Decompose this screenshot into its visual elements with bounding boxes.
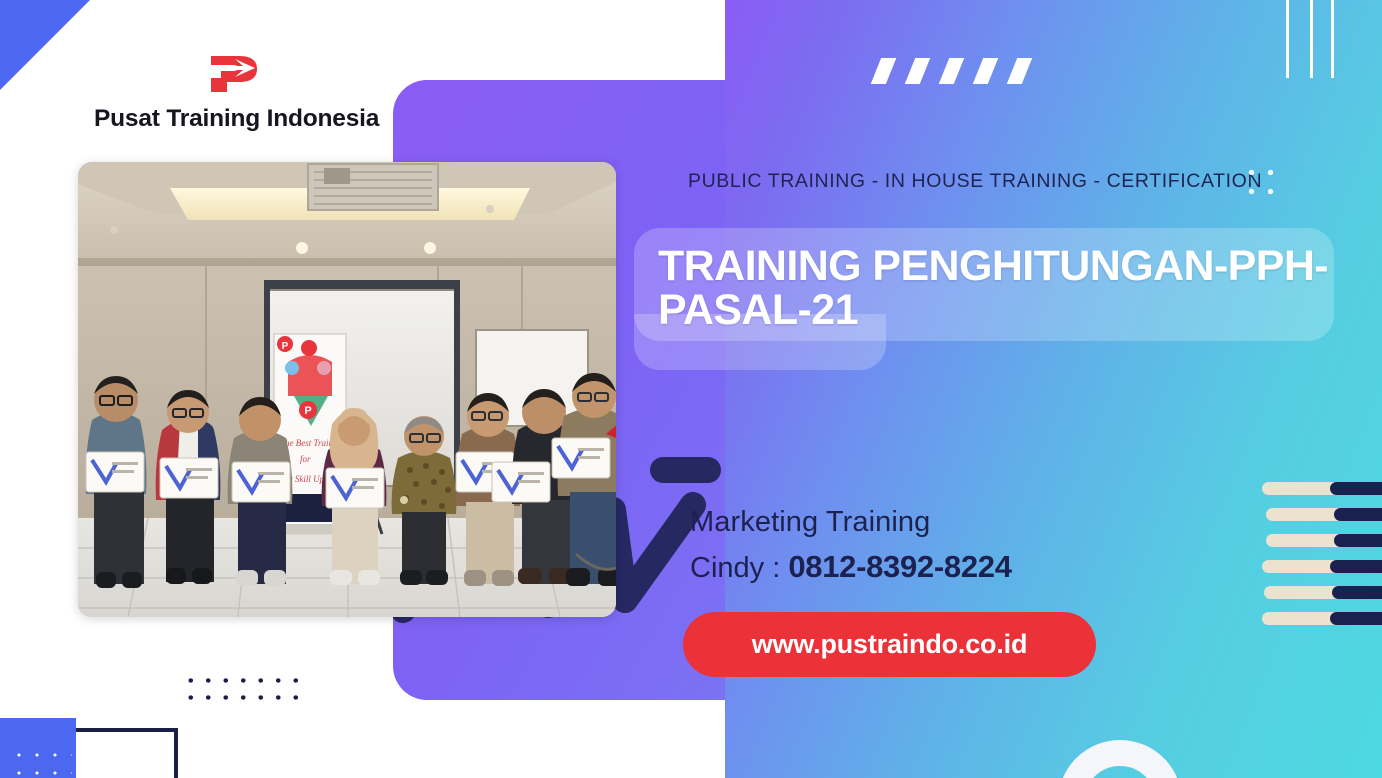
bar-navy-segment [1334,508,1382,521]
dotted-square-decoration [0,718,76,778]
slant-dash [973,58,999,84]
bar-cream-segment [1262,482,1340,495]
pusat-training-p-arrow-logo-icon [203,52,261,92]
corner-triangle-decoration [0,0,90,90]
white-dot-grid [10,746,72,778]
contact-block: Marketing Training Cindy : 0812-8392-822… [690,506,1012,585]
contact-phone-line: Cindy : 0812-8392-8224 [690,549,1012,585]
brand-logo-block: Pusat Training Indonesia [94,52,370,133]
website-cta-button[interactable]: www.pustraindo.co.id [683,612,1096,677]
bar-cream-segment [1262,560,1340,573]
bar-cream-segment [1266,508,1344,521]
bar-navy-segment [1330,482,1382,495]
bar-cream-segment [1266,534,1344,547]
vertical-line-decoration [1286,0,1289,78]
bar-navy-segment [1334,534,1382,547]
contact-phone-number[interactable]: 0812-8392-8224 [788,549,1011,584]
slant-dash [939,58,965,84]
svg-text:P: P [304,405,311,417]
vertical-line-decoration [1310,0,1313,78]
bar-stack-decoration [1262,482,1382,628]
page-title: TRAINING PENGHITUNGAN-PPH-PASAL-21 [634,228,1334,333]
svg-text:P: P [282,341,289,352]
promo-banner: P P The Best Training for Your Skill Upg… [0,0,1382,778]
tagline: PUBLIC TRAINING - IN HOUSE TRAINING - CE… [688,170,1262,193]
bar-cream-segment [1262,612,1340,625]
slanted-dashes-decoration [876,58,1046,84]
bar-navy-segment [1330,560,1382,573]
brand-name: Pusat Training Indonesia [94,105,370,133]
white-dot-grid-decoration [1242,163,1284,205]
vertical-line-decoration [1331,0,1334,78]
slant-dash [905,58,931,84]
bar-navy-segment [1330,612,1382,625]
slant-dash [1007,58,1033,84]
bar-cream-segment [1264,586,1342,599]
training-group-photo: P P The Best Training for Your Skill Upg… [78,162,616,617]
contact-role: Marketing Training [690,506,1012,539]
svg-text:for: for [300,454,311,464]
contact-person-label: Cindy : [690,552,780,584]
navy-dot-grid-decoration [182,672,304,706]
headline-block: TRAINING PENGHITUNGAN-PPH-PASAL-21 [634,228,1334,333]
bar-navy-segment [1332,586,1382,599]
